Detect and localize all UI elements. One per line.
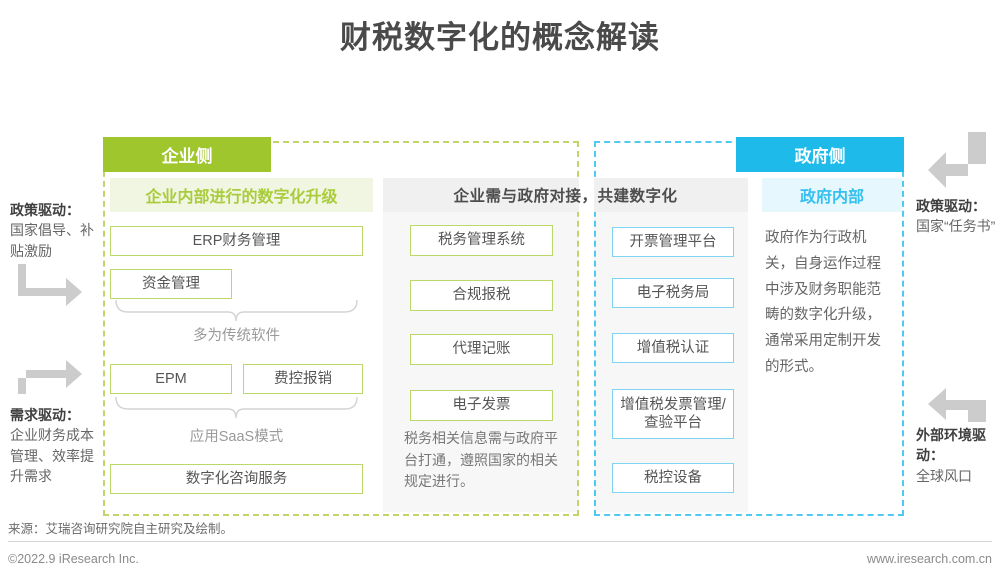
enterprise-side-header: 企业侧: [103, 137, 271, 172]
driver-title: 政策驱动：: [10, 202, 80, 218]
driver-title: 外部环境驱动：: [916, 427, 986, 463]
driver-label-external-right: 外部环境驱动： 全球风口: [916, 425, 996, 486]
driver-label-policy-left: 政策驱动： 国家倡导、补贴激励: [10, 200, 96, 261]
government-internal-note: 政府作为行政机关，自身运作过程中涉及财务职能范畴的数字化升级，通常采用定制开发的…: [765, 226, 893, 381]
joint-enterprise-note: 税务相关信息需与政府平台打通，遵照国家的相关规定进行。: [404, 428, 564, 493]
list-item[interactable]: 电子税务局: [612, 278, 734, 308]
government-internal-band: 政府内部: [762, 178, 902, 212]
government-internal-column: 政府内部: [762, 178, 902, 212]
driver-title: 需求驱动：: [10, 407, 80, 423]
slide-canvas: 财税数字化的概念解读 企业侧 政府侧 企业内部进行的数字化升级 企业需与政府对接…: [0, 0, 1000, 578]
driver-text: 国家“任务书”: [916, 218, 995, 234]
list-item[interactable]: 代理记账: [410, 334, 553, 365]
list-item[interactable]: EPM: [110, 364, 232, 394]
driver-text: 全球风口: [916, 468, 972, 484]
website-link[interactable]: www.iresearch.com.cn: [867, 552, 992, 566]
arrow-left-up-icon: [928, 378, 994, 424]
list-item[interactable]: 电子发票: [410, 390, 553, 421]
arrow-left-icon: [928, 130, 994, 190]
driver-label-demand-left: 需求驱动： 企业财务成本管理、效率提升需求: [10, 405, 100, 486]
brace-connector-saas: [110, 396, 363, 422]
brace-connector-traditional: [110, 299, 363, 325]
list-item[interactable]: 数字化咨询服务: [110, 464, 363, 494]
list-item[interactable]: 税务管理系统: [410, 225, 553, 256]
page-title: 财税数字化的概念解读: [0, 12, 1000, 57]
footer-divider: [8, 541, 992, 542]
brace-label-traditional: 多为传统软件: [110, 324, 363, 345]
driver-label-policy-right: 政策驱动： 国家“任务书”: [916, 196, 996, 237]
source-note: 来源：艾瑞咨询研究院自主研究及绘制。: [8, 518, 233, 537]
driver-text: 企业财务成本管理、效率提升需求: [10, 427, 94, 484]
list-item[interactable]: 资金管理: [110, 269, 232, 299]
list-item[interactable]: 增值税发票管理/查验平台: [612, 389, 734, 439]
copyright-note: ©2022.9 iResearch Inc.: [8, 552, 139, 566]
list-item[interactable]: 合规报税: [410, 280, 553, 311]
driver-title: 政策驱动：: [916, 198, 986, 214]
brace-label-saas: 应用SaaS模式: [110, 425, 363, 446]
list-item[interactable]: 增值税认证: [612, 333, 734, 363]
arrow-right-up-icon: [18, 350, 84, 396]
government-side-header: 政府侧: [736, 137, 904, 172]
driver-text: 国家倡导、补贴激励: [10, 222, 94, 258]
list-item[interactable]: ERP财务管理: [110, 226, 363, 256]
joint-band-label: 企业需与政府对接，共建数字化: [383, 178, 748, 212]
list-item[interactable]: 开票管理平台: [612, 227, 734, 257]
enterprise-internal-column: 企业内部进行的数字化升级: [110, 178, 373, 212]
arrow-right-icon: [18, 262, 84, 308]
list-item[interactable]: 费控报销: [243, 364, 363, 394]
list-item[interactable]: 税控设备: [612, 463, 734, 493]
enterprise-internal-band: 企业内部进行的数字化升级: [110, 178, 373, 212]
